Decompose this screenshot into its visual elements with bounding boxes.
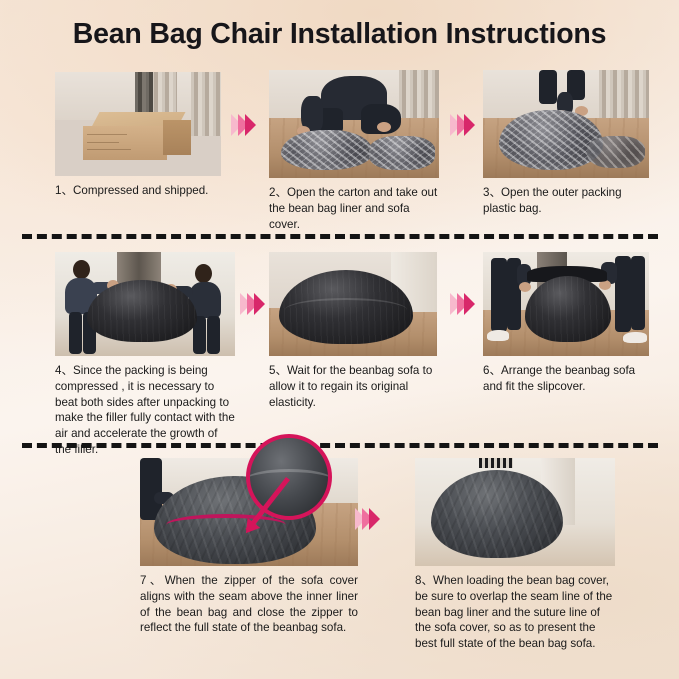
step-3-caption: 3、Open the outer packing plastic bag.: [483, 185, 649, 217]
chevron-right-icon: [464, 114, 475, 136]
carton-label-line: [87, 134, 127, 135]
step-6: 6、Arrange the beanbag sofa and fit the s…: [483, 252, 649, 395]
zipper-callout-circle: [246, 434, 332, 520]
section-divider-1: [22, 234, 658, 239]
step-7: 7、When the zipper of the sofa cover alig…: [140, 458, 358, 636]
liner-seam: [285, 298, 407, 322]
step-6-caption: 6、Arrange the beanbag sofa and fit the s…: [483, 363, 649, 395]
step-5-photo: [269, 252, 437, 356]
arrow-step-7-to-8: [355, 508, 376, 530]
step-3: 3、Open the outer packing plastic bag.: [483, 70, 649, 217]
arrow-step-5-to-6: [450, 293, 471, 315]
step-2-caption: 2、Open the carton and take out the bean …: [269, 185, 439, 232]
step-3-photo: [483, 70, 649, 178]
step-5: 5、Wait for the beanbag sofa to allow it …: [269, 252, 437, 410]
chevron-right-icon: [245, 114, 256, 136]
chevron-right-icon: [254, 293, 265, 315]
radiator: [479, 458, 513, 468]
page-title: Bean Bag Chair Installation Instructions: [0, 18, 679, 51]
chevron-right-icon: [369, 508, 380, 530]
step-7-caption: 7、When the zipper of the sofa cover alig…: [140, 573, 358, 636]
carton-label-line: [87, 149, 131, 150]
carton-front: [83, 126, 167, 160]
step-1-photo: [55, 72, 221, 176]
step-6-photo: [483, 252, 649, 356]
carton-side: [163, 120, 191, 155]
step-5-caption: 5、Wait for the beanbag sofa to allow it …: [269, 363, 437, 410]
step-4: 4、Since the packing is being compressed …: [55, 252, 235, 458]
section-divider-2: [22, 443, 658, 448]
step-2: 2、Open the carton and take out the bean …: [269, 70, 439, 232]
plastic-bag-flap: [587, 136, 645, 168]
step-8-caption: 8、When loading the bean bag cover, be su…: [415, 573, 615, 652]
arrow-step-2-to-3: [450, 114, 471, 136]
carton-label-line: [87, 142, 119, 143]
step-8-photo: [415, 458, 615, 566]
step-8: 8、When loading the bean bag cover, be su…: [415, 458, 615, 652]
step-4-photo: [55, 252, 235, 356]
arrow-step-1-to-2: [231, 114, 252, 136]
step-1-caption: 1、Compressed and shipped.: [55, 183, 221, 199]
vacuum-bag-cover: [369, 136, 435, 170]
step-7-photo: [140, 458, 358, 566]
zipper-seam-line: [166, 514, 286, 536]
step-1: 1、Compressed and shipped.: [55, 72, 221, 199]
chevron-right-icon: [464, 293, 475, 315]
callout-seam: [246, 469, 332, 496]
outer-plastic-bag: [499, 110, 603, 170]
step-2-photo: [269, 70, 439, 178]
arrow-step-4-to-5: [240, 293, 261, 315]
vacuum-bag-liner: [281, 130, 373, 170]
